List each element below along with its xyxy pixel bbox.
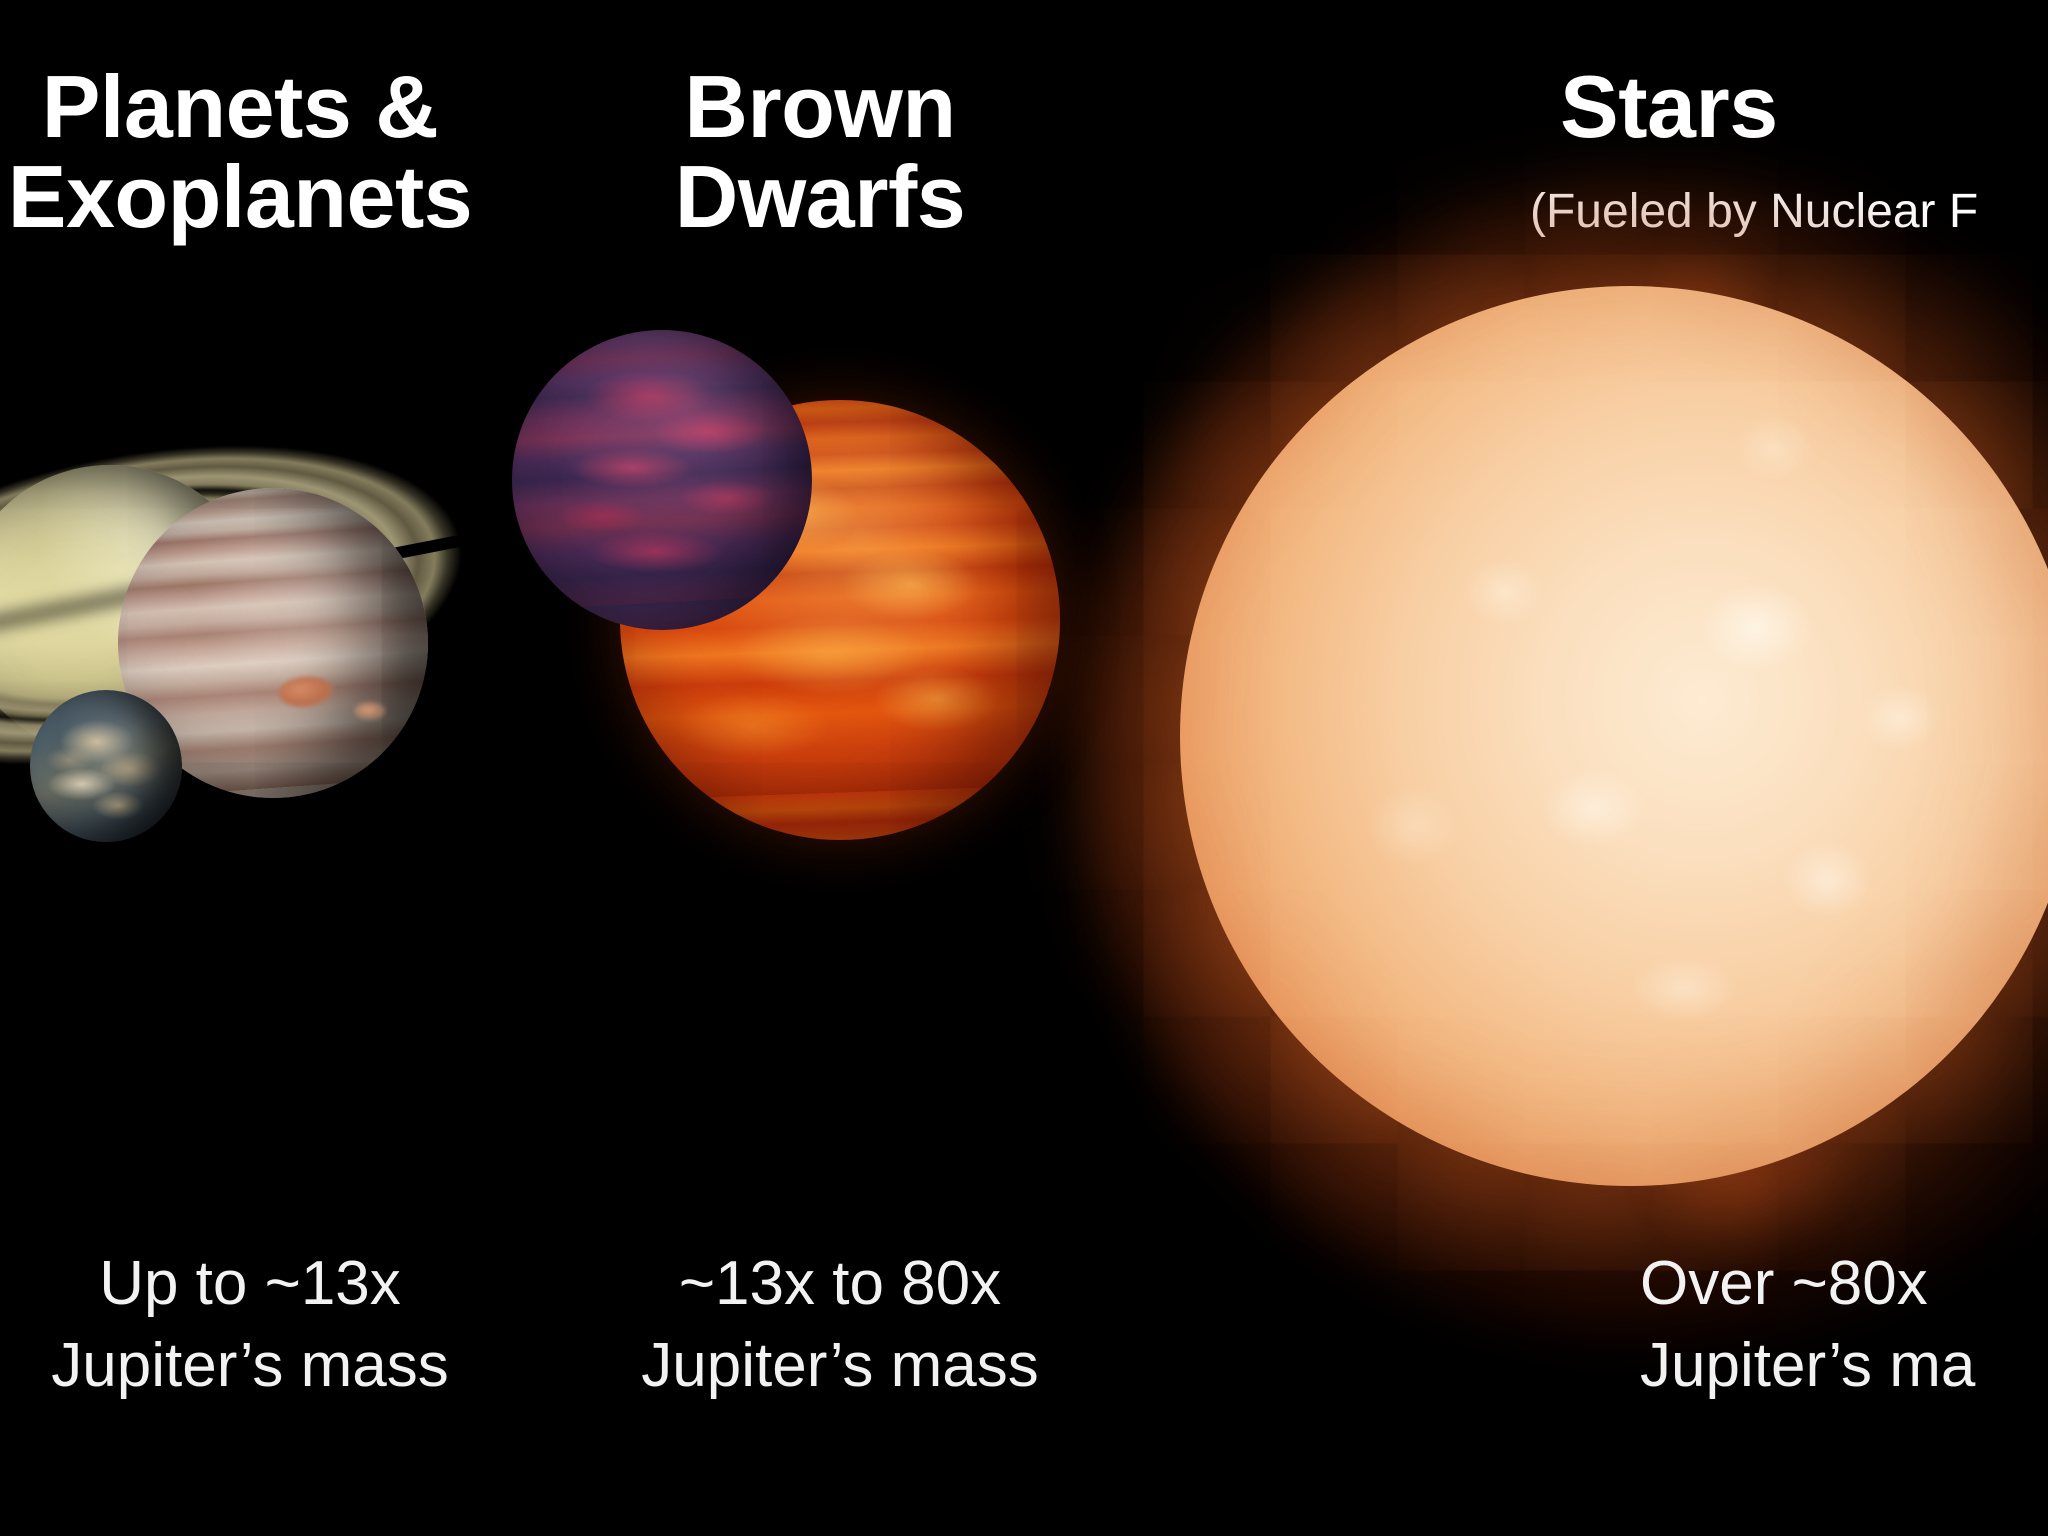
star-limb-darkening bbox=[1180, 286, 2048, 1186]
column-caption-brown-dwarfs: ~13x to 80x Jupiter’s mass bbox=[560, 1243, 1120, 1407]
column-caption-stars: Over ~80x Jupiter’s ma bbox=[1640, 1243, 2048, 1407]
earth-like-planet bbox=[30, 690, 182, 842]
brown-dwarf-small bbox=[512, 330, 812, 630]
jupiter-storm-spot bbox=[354, 702, 386, 720]
infographic-canvas: Planets & Exoplanets Brown Dwarfs Stars … bbox=[0, 0, 2048, 1536]
column-caption-planets: Up to ~13x Jupiter’s mass bbox=[0, 1243, 520, 1407]
column-heading-stars: Stars bbox=[1560, 62, 2048, 152]
column-heading-planets: Planets & Exoplanets bbox=[0, 62, 520, 242]
jupiter-great-red-spot bbox=[278, 675, 334, 709]
column-heading-brown-dwarfs: Brown Dwarfs bbox=[540, 62, 1100, 242]
